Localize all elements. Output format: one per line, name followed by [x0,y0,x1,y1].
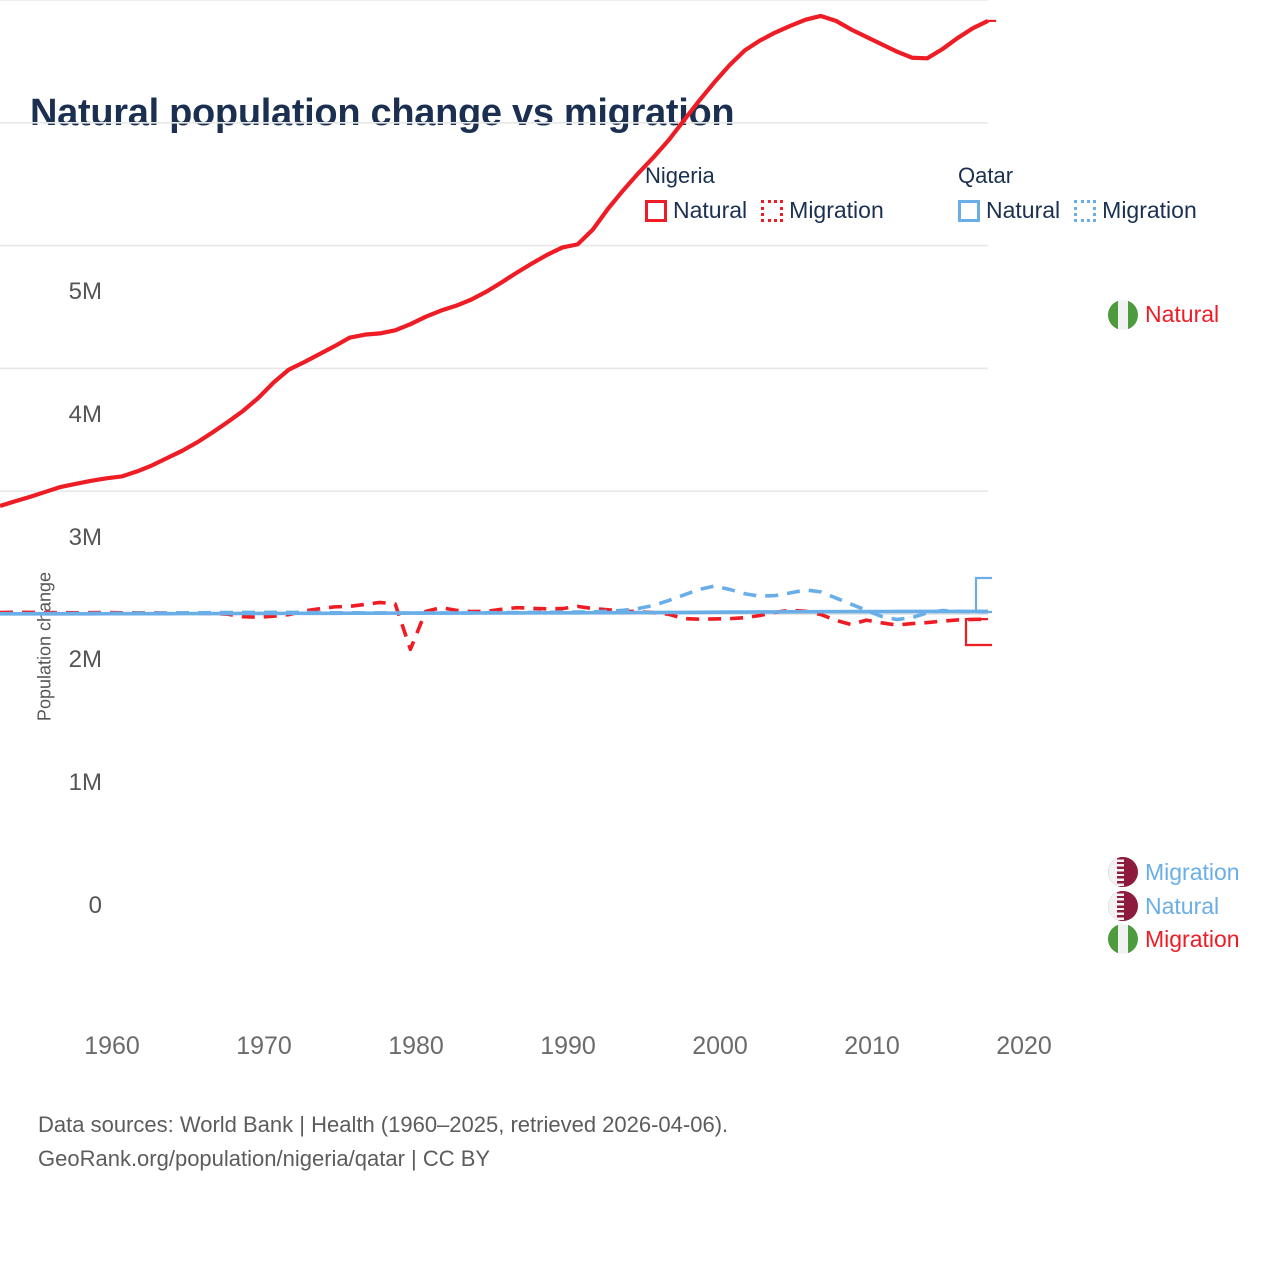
footer-attribution: Data sources: World Bank | Health (1960–… [38,1108,728,1176]
nigeria-flag-icon [1108,924,1138,954]
end-label-qatar-migration: Migration [1108,857,1240,887]
end-label-nigeria-natural: Natural [1108,300,1219,330]
qatar-flag-icon [1108,857,1138,887]
leader-line-qatar-natural [976,611,992,612]
end-label-text: Natural [1145,893,1219,920]
qatar-flag-icon [1108,891,1138,921]
end-label-text: Migration [1145,926,1240,953]
end-label-nigeria-migration: Migration [1108,924,1240,954]
x-axis-tick-label: 1960 [84,1032,140,1061]
chart-container: Natural population change vs migration N… [0,0,1280,1280]
x-axis-tick-label: 2010 [844,1032,900,1061]
series-line-nigeria-migration [0,602,988,649]
end-label-qatar-natural: Natural [1108,891,1219,921]
series-line-nigeria-natural [0,16,988,506]
footer-line-2: GeoRank.org/population/nigeria/qatar | C… [38,1142,728,1176]
x-axis-tick-label: 1970 [236,1032,292,1061]
leader-line-nigeria-migration [966,619,992,645]
footer-line-1: Data sources: World Bank | Health (1960–… [38,1108,728,1142]
x-axis-tick-label: 2000 [692,1032,748,1061]
x-axis-tick-label: 2020 [996,1032,1052,1061]
nigeria-flag-icon [1108,300,1138,330]
plot-area [0,0,1168,986]
x-axis-tick-label: 1990 [540,1032,596,1061]
leader-line-qatar-migration [976,578,992,612]
end-label-text: Natural [1145,301,1219,328]
end-label-text: Migration [1145,859,1240,886]
x-axis-tick-label: 1980 [388,1032,444,1061]
